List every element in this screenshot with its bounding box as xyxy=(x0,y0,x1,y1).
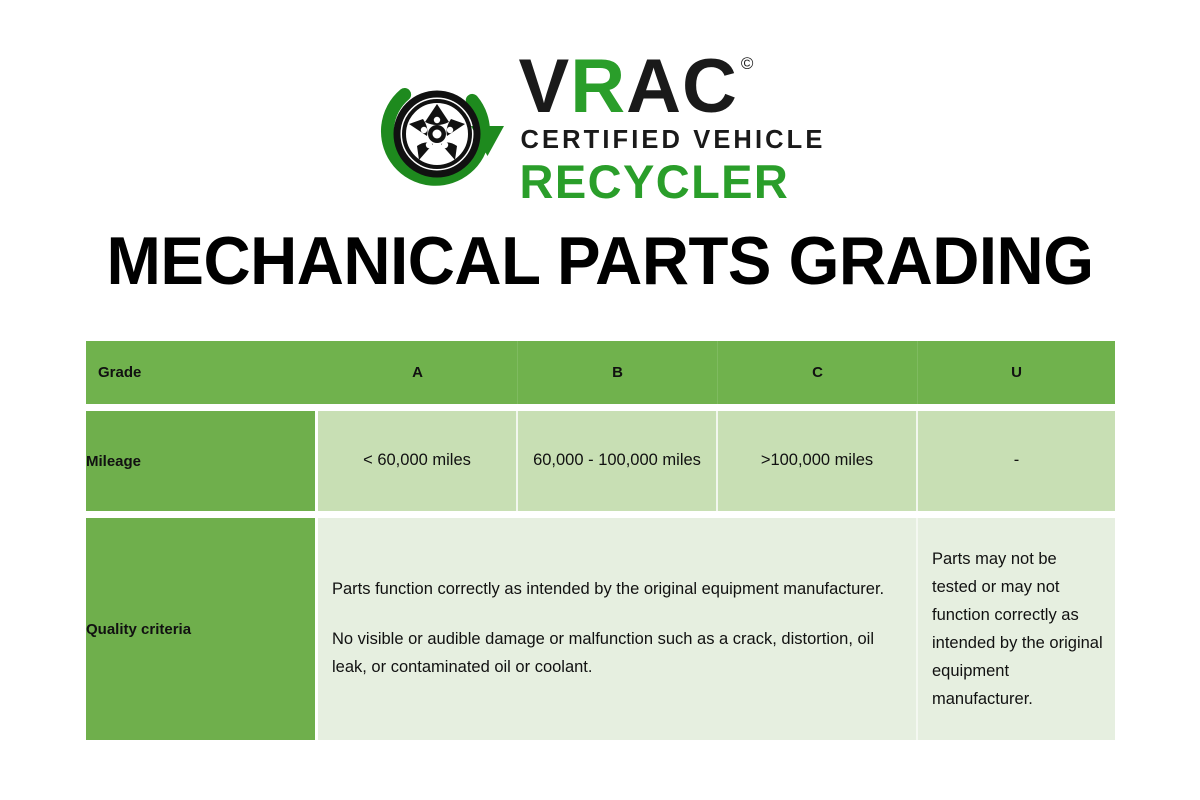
header-grade-c: C xyxy=(718,341,918,404)
gutter-cell xyxy=(86,404,1115,411)
quality-paragraph-2: No visible or audible damage or malfunct… xyxy=(332,626,894,681)
logo-letter-r: R xyxy=(570,52,626,122)
mileage-cell-b: 60,000 - 100,000 miles xyxy=(518,411,718,511)
logo-wordmark: VRAC© CERTIFIED VEHICLE RECYCLER xyxy=(519,52,826,205)
table-row-quality-criteria: Quality criteria Parts function correctl… xyxy=(86,518,1115,740)
mechanical-parts-grading-table: Grade A B C U Mileage < 60,000 miles 60,… xyxy=(86,341,1115,740)
logo-brand-line: VRAC© xyxy=(519,52,755,122)
table-row-mileage: Mileage < 60,000 miles 60,000 - 100,000 … xyxy=(86,411,1115,511)
logo-letter-v: V xyxy=(519,52,571,122)
vrac-logo: VRAC© CERTIFIED VEHICLE RECYCLER xyxy=(0,52,1200,205)
header-grade-label: Grade xyxy=(86,341,318,404)
quality-cell-u: Parts may not be tested or may not funct… xyxy=(918,518,1115,740)
page-root: VRAC© CERTIFIED VEHICLE RECYCLER MECHANI… xyxy=(0,0,1200,800)
row-label-mileage: Mileage xyxy=(86,411,318,511)
header-grade-a: A xyxy=(318,341,518,404)
copyright-icon: © xyxy=(741,56,755,72)
mileage-cell-c: >100,000 miles xyxy=(718,411,918,511)
mileage-cell-u: - xyxy=(918,411,1115,511)
logo-inner: VRAC© CERTIFIED VEHICLE RECYCLER xyxy=(375,52,826,205)
table-header-row: Grade A B C U xyxy=(86,341,1115,404)
header-grade-u: U xyxy=(918,341,1115,404)
table-gutter xyxy=(86,404,1115,411)
quality-cell-abc: Parts function correctly as intended by … xyxy=(318,518,918,740)
gutter-cell xyxy=(86,511,1115,518)
page-title: MECHANICAL PARTS GRADING xyxy=(24,222,1176,300)
table-gutter xyxy=(86,511,1115,518)
logo-letters-ac: AC xyxy=(626,52,738,122)
row-label-quality-criteria: Quality criteria xyxy=(86,518,318,740)
logo-tagline: CERTIFIED VEHICLE xyxy=(521,128,826,154)
quality-paragraph-1: Parts function correctly as intended by … xyxy=(332,576,894,604)
mileage-cell-a: < 60,000 miles xyxy=(318,411,518,511)
wheel-recycle-icon xyxy=(375,60,507,198)
logo-subbrand: RECYCLER xyxy=(520,158,790,205)
header-grade-b: B xyxy=(518,341,718,404)
